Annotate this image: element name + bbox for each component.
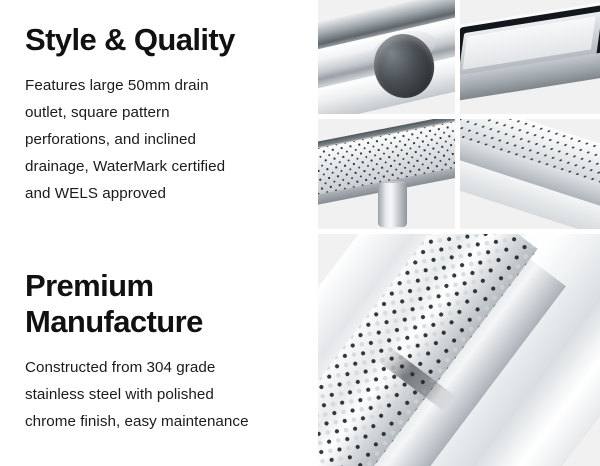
body-premium-manufacture: Constructed from 304 grade stainless ste… (25, 354, 307, 435)
photo-channel-body-seal (460, 0, 600, 114)
photo-grate-angled-strip (460, 119, 600, 229)
feature-block-premium-manufacture: Premium Manufacture Constructed from 304… (25, 268, 307, 435)
photo-hero-grate-diagonal (318, 234, 600, 466)
drain-outlet-image (318, 0, 455, 114)
product-feature-page: Style & Quality Features large 50mm drai… (0, 0, 600, 466)
photo-drain-outlet-closeup (318, 0, 455, 114)
heading-style-quality: Style & Quality (25, 22, 307, 58)
outlet-pipe (378, 183, 407, 227)
hero-grate-image (318, 234, 600, 466)
grate-pipe-image (318, 119, 455, 229)
heading-premium-manufacture: Premium Manufacture (25, 268, 307, 340)
product-photo-grid (318, 0, 600, 466)
body-style-quality: Features large 50mm drain outlet, square… (25, 72, 307, 207)
photo-grate-with-outlet-pipe (318, 119, 455, 229)
copy-column: Style & Quality Features large 50mm drai… (0, 0, 312, 466)
feature-block-style-quality: Style & Quality Features large 50mm drai… (25, 22, 307, 207)
grate-strip-image (460, 119, 600, 229)
channel-body-image (460, 0, 600, 114)
